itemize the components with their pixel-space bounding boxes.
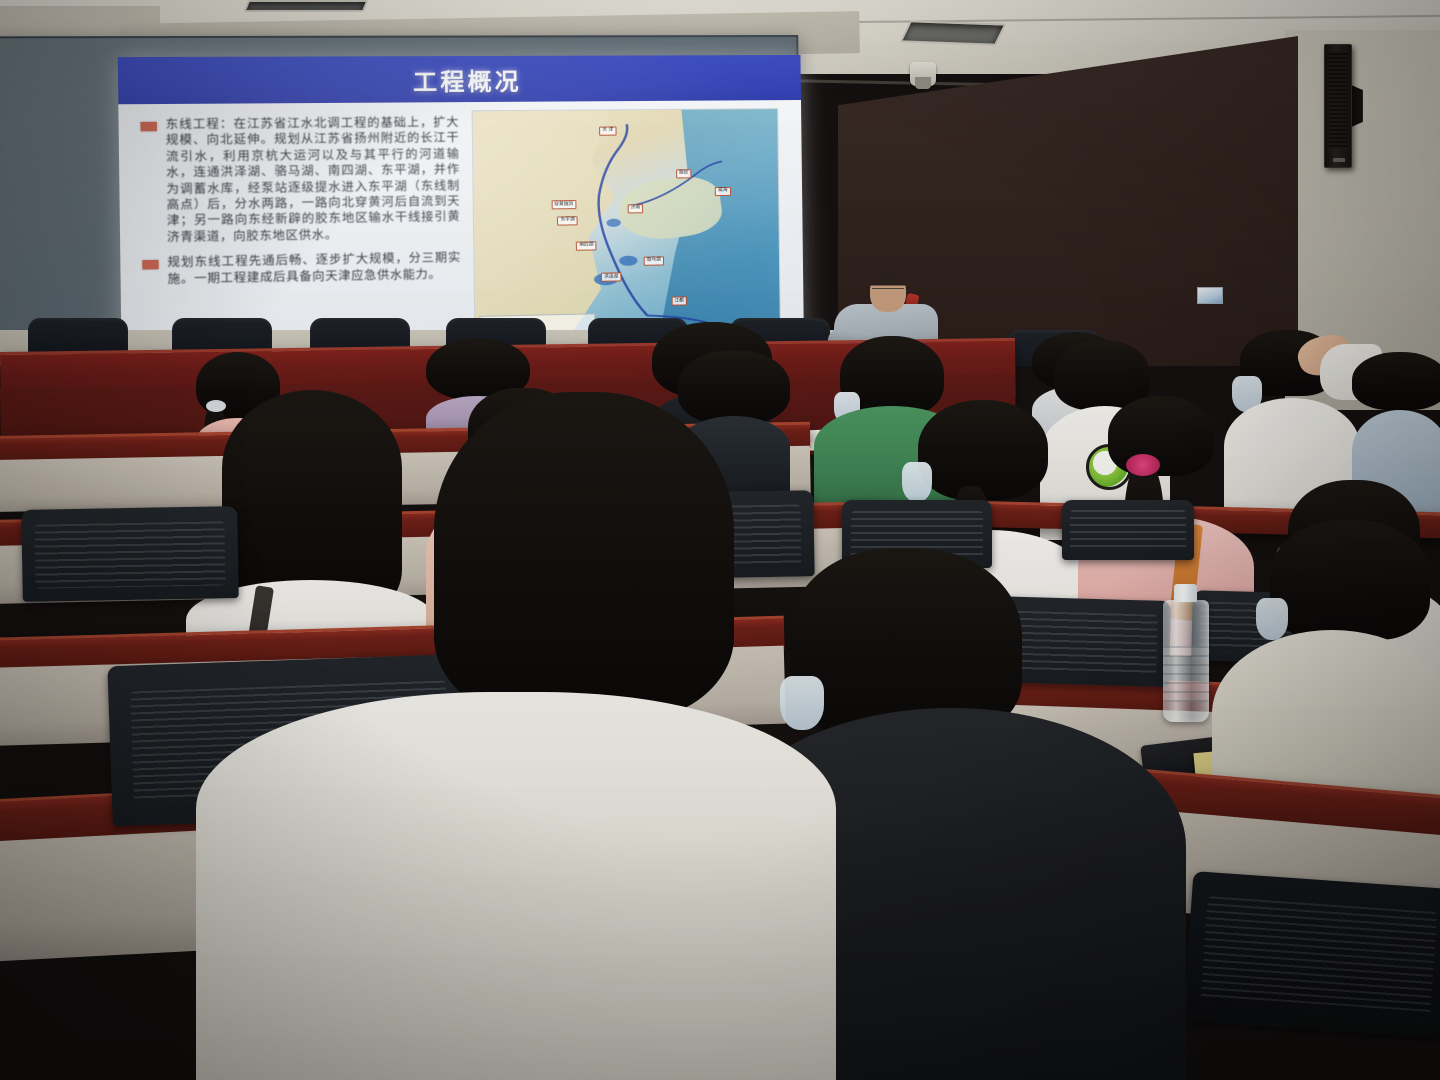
map-label-luomahu: 骆马湖 [644,256,664,265]
hair [1270,520,1430,640]
slide-text-column: 东线工程：在江苏省江水北调工程的基础上，扩大规模、向北延伸。规划从江苏省扬州附近… [118,102,468,360]
ceiling-vent-left-icon [244,0,369,12]
map-label-dongpinghu: 东平湖 [557,216,578,225]
hair [1108,396,1214,476]
hair [1352,352,1440,410]
student-front-center [196,392,836,1080]
slide-bullet-1-text: 东线工程：在江苏省江水北调工程的基础上，扩大规模、向北延伸。规划从江苏省扬州附近… [165,114,460,245]
map-label-yantai: 烟台 [676,169,692,178]
slide-bullet-2: 规划东线工程先通后畅、逐步扩大规模，分三期实施。一期工程建成后具备向天津应急供水… [142,250,461,288]
map-label-tianjin: 天 津 [599,126,616,135]
map-route-lines [473,109,780,342]
slide-title-banner: 工程概况 [118,55,801,104]
presenter-glasses-icon [872,288,904,295]
map-label-jiangdu: 江都 [671,297,687,306]
ceiling-smoke-detector-icon [910,62,936,86]
map-label-jinan: 济南 [628,204,644,213]
shoulders [196,692,836,1080]
lecture-hall-photo: 工程概况 东线工程：在江苏省江水北调工程的基础上，扩大规模、向北延伸。规划从江苏… [0,0,1440,1080]
face-mask-icon [902,462,932,502]
bullet-marker-icon [140,122,156,132]
slide-bullet-2-text: 规划东线工程先通后畅、逐步扩大规模，分三期实施。一期工程建成后具备向天津应急供水… [167,250,461,287]
map-label-nansihu: 南四湖 [576,241,596,250]
door-sign-icon [1197,287,1223,304]
ceiling-vent-right-icon [900,20,1007,45]
hair [434,392,734,722]
slide-map-image: 天 津 烟台 威海 穿黄隧洞 东平湖 济南 南四湖 骆马湖 洪泽湖 江都 图例 [472,108,781,343]
chair-row1-right[interactable] [1183,871,1440,1039]
slide-title: 工程概况 [413,61,522,96]
projected-slide: 工程概况 东线工程：在江苏省江水北调工程的基础上，扩大规模、向北延伸。规划从江苏… [118,55,804,360]
front-chair-1[interactable] [28,318,128,354]
slide-bullet-1: 东线工程：在江苏省江水北调工程的基础上，扩大规模、向北延伸。规划从江苏省扬州附近… [140,114,460,245]
bullet-marker-icon [142,260,158,270]
projection-board: 工程概况 东线工程：在江苏省江水北调工程的基础上，扩大规模、向北延伸。规划从江苏… [0,35,802,351]
map-label-weihai: 威海 [715,187,730,196]
speaker-logo-icon [1333,158,1345,162]
face-mask-icon [1256,598,1288,640]
hair [918,400,1048,500]
wall-speaker-icon [1324,44,1352,168]
map-label-hongzehu: 洪泽湖 [601,273,621,282]
scrunchie-icon [1126,454,1160,476]
map-label-chuanhuang: 穿黄隧洞 [551,200,576,209]
